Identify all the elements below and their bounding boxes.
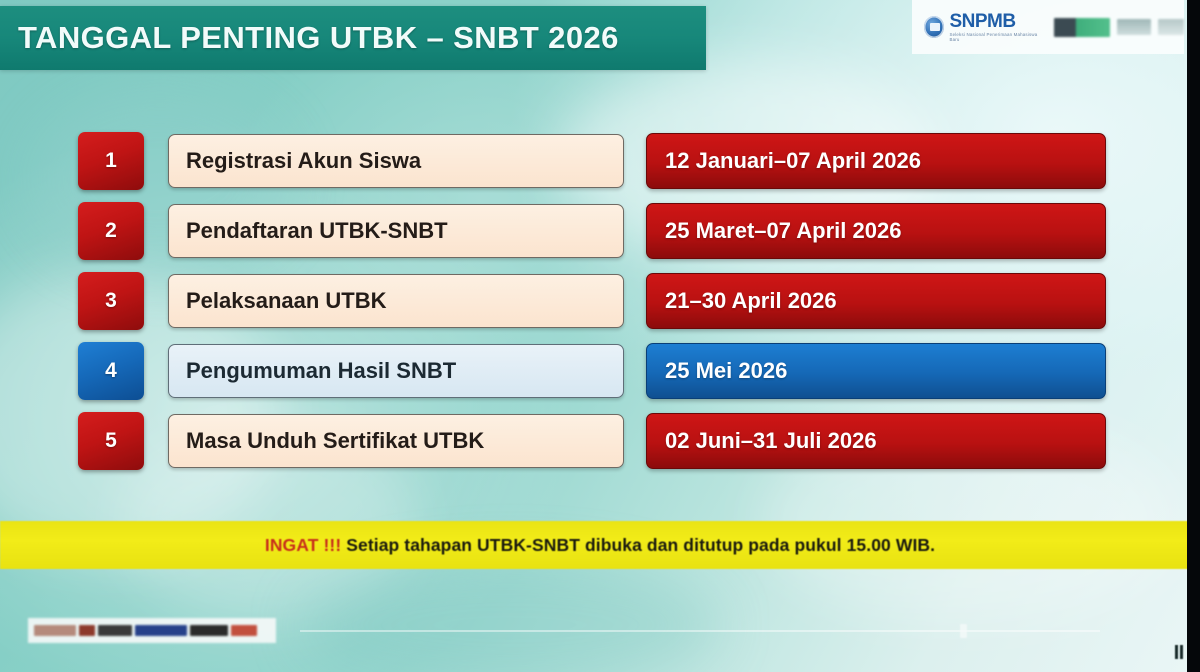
schedule-table: 1 Registrasi Akun Siswa 12 Januari–07 Ap… xyxy=(78,130,1108,480)
right-edge-letterbox xyxy=(1187,0,1200,672)
note-body: Setiap tahapan UTBK-SNBT dibuka dan ditu… xyxy=(341,535,935,555)
row-number-badge: 5 xyxy=(78,412,144,470)
logo-block: SNPMB Seleksi Nasional Penerimaan Mahasi… xyxy=(912,0,1184,54)
snpmb-logo: SNPMB Seleksi Nasional Penerimaan Mahasi… xyxy=(924,12,1042,42)
row-date-value: 25 Mei 2026 xyxy=(646,343,1106,399)
watermark-block xyxy=(79,625,95,636)
partner-logo-1-icon xyxy=(1054,18,1110,37)
video-progress-handle[interactable] xyxy=(960,624,967,638)
row-activity-label: Pendaftaran UTBK-SNBT xyxy=(168,204,624,258)
row-activity-label: Masa Unduh Sertifikat UTBK xyxy=(168,414,624,468)
table-row: 3 Pelaksanaan UTBK 21–30 April 2026 xyxy=(78,270,1108,332)
row-number-badge: 4 xyxy=(78,342,144,400)
partner-logo-2-icon xyxy=(1117,19,1151,35)
video-progress-bar[interactable] xyxy=(300,630,1100,632)
row-date-value: 02 Juni–31 Juli 2026 xyxy=(646,413,1106,469)
page-title: TANGGAL PENTING UTBK – SNBT 2026 xyxy=(0,20,619,56)
note-banner: INGAT !!! Setiap tahapan UTBK-SNBT dibuk… xyxy=(0,521,1200,569)
row-activity-label: Registrasi Akun Siswa xyxy=(168,134,624,188)
row-date-value: 21–30 April 2026 xyxy=(646,273,1106,329)
slide-canvas: TANGGAL PENTING UTBK – SNBT 2026 SNPMB S… xyxy=(0,0,1200,672)
note-warning-label: INGAT !!! xyxy=(265,535,341,555)
table-row: 2 Pendaftaran UTBK-SNBT 25 Maret–07 Apri… xyxy=(78,200,1108,262)
watermark-block xyxy=(135,625,187,636)
partner-logo-3-icon xyxy=(1158,19,1184,35)
table-row-highlighted: 4 Pengumuman Hasil SNBT 25 Mei 2026 xyxy=(78,340,1108,402)
watermark-block xyxy=(190,625,228,636)
note-text: INGAT !!! Setiap tahapan UTBK-SNBT dibuk… xyxy=(265,535,935,556)
row-number-badge: 1 xyxy=(78,132,144,190)
row-activity-label: Pelaksanaan UTBK xyxy=(168,274,624,328)
pause-icon[interactable] xyxy=(1175,645,1184,659)
row-number-badge: 2 xyxy=(78,202,144,260)
source-watermark xyxy=(28,618,276,643)
row-date-value: 12 Januari–07 April 2026 xyxy=(646,133,1106,189)
table-row: 1 Registrasi Akun Siswa 12 Januari–07 Ap… xyxy=(78,130,1108,192)
row-activity-label: Pengumuman Hasil SNBT xyxy=(168,344,624,398)
background-smudge xyxy=(300,560,720,672)
partner-logos xyxy=(1054,18,1184,37)
watermark-block xyxy=(98,625,132,636)
row-number-badge: 3 xyxy=(78,272,144,330)
watermark-block xyxy=(34,625,76,636)
watermark-block xyxy=(231,625,257,636)
header-bar: TANGGAL PENTING UTBK – SNBT 2026 xyxy=(0,6,706,70)
row-date-value: 25 Maret–07 April 2026 xyxy=(646,203,1106,259)
snpmb-subtitle: Seleksi Nasional Penerimaan Mahasiswa Ba… xyxy=(949,33,1042,42)
table-row: 5 Masa Unduh Sertifikat UTBK 02 Juni–31 … xyxy=(78,410,1108,472)
snpmb-circle-logo-icon xyxy=(924,16,944,38)
snpmb-wordmark: SNPMB xyxy=(949,12,1042,31)
